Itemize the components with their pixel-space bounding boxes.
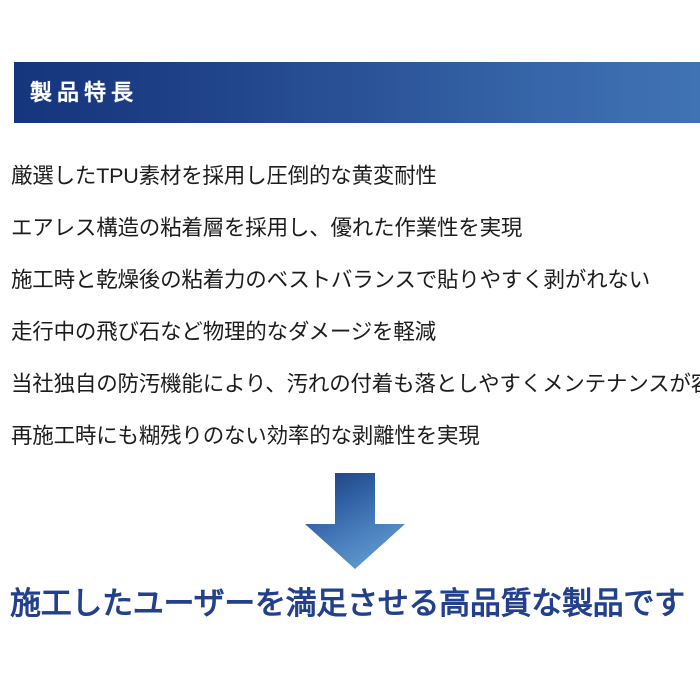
feature-item: 厳選したTPU素材を採用し圧倒的な黄変耐性 [11,150,700,202]
feature-item: 当社独自の防汚機能により、汚れの付着も落としやすくメンテナンスが容易 [11,358,700,410]
section-header-title: 製品特長 [30,82,138,104]
conclusion-headline: 施工したユーザーを満足させる高品質な製品です [10,583,700,625]
feature-item: エアレス構造の粘着層を採用し、優れた作業性を実現 [11,202,700,254]
feature-list: 厳選したTPU素材を採用し圧倒的な黄変耐性 エアレス構造の粘着層を採用し、優れた… [11,150,700,462]
product-features-panel: 製品特長 厳選したTPU素材を採用し圧倒的な黄変耐性 エアレス構造の粘着層を採用… [0,0,700,700]
feature-item: 再施工時にも糊残りのない効率的な剥離性を実現 [11,410,700,462]
feature-item: 走行中の飛び石など物理的なダメージを軽減 [11,306,700,358]
feature-item: 施工時と乾燥後の粘着力のベストバランスで貼りやすく剥がれない [11,254,700,306]
arrow-down-icon [303,472,407,570]
section-header-bar: 製品特長 [14,62,700,123]
